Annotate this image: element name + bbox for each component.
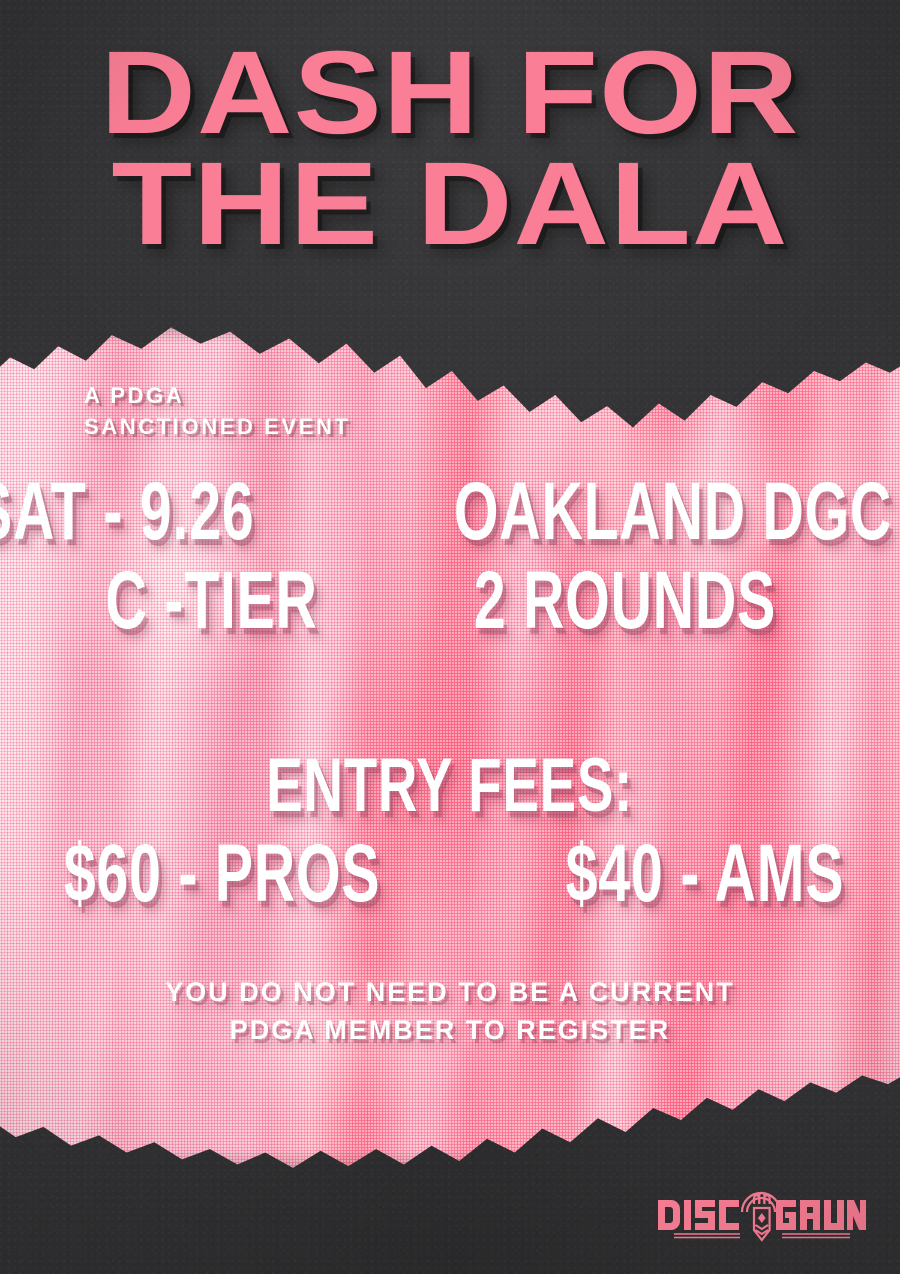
sanction-kicker: A PDGA SANCTIONED EVENT	[84, 380, 351, 442]
poster-body: A PDGA SANCTIONED EVENT SAT - 9.26 OAKLA…	[0, 318, 900, 1173]
event-date: SAT - 9.26	[0, 468, 254, 557]
detail-row-date-venue: SAT - 9.26 OAKLAND DGC	[0, 468, 900, 557]
gauntlet-shield-icon	[742, 1193, 780, 1240]
brand-logo	[654, 1176, 868, 1246]
kicker-line-1: A PDGA	[84, 380, 351, 411]
kicker-line-2: SANCTIONED EVENT	[84, 411, 351, 442]
title-line-2: THE DALA	[0, 149, 900, 260]
event-details: SAT - 9.26 OAKLAND DGC C -TIER 2 ROUNDS	[0, 468, 900, 645]
entry-fees-section: ENTRY FEES: $60 - PROS $40 - AMS	[0, 746, 900, 918]
detail-row-tier-rounds: C -TIER 2 ROUNDS	[0, 557, 900, 646]
entry-fees-heading: ENTRY FEES:	[267, 746, 634, 826]
fee-pros: $60 - PROS	[64, 830, 380, 919]
event-poster: DASH FOR THE DALA A PDGA SANCTIONED EVEN…	[0, 0, 900, 1274]
event-rounds: 2 ROUNDS	[473, 557, 775, 646]
disclaimer-line-2: PDGA MEMBER TO REGISTER	[0, 1011, 900, 1049]
entry-fees-row: $60 - PROS $40 - AMS	[0, 830, 900, 919]
disc-gauntlet-logo-svg	[654, 1178, 868, 1244]
event-tier: C -TIER	[105, 557, 317, 646]
title-line-1: DASH FOR	[0, 38, 900, 149]
disclaimer-line-1: YOU DO NOT NEED TO BE A CURRENT	[0, 973, 900, 1011]
fee-ams: $40 - AMS	[566, 830, 845, 919]
page-title: DASH FOR THE DALA	[0, 38, 900, 260]
membership-disclaimer: YOU DO NOT NEED TO BE A CURRENT PDGA MEM…	[0, 973, 900, 1050]
event-venue: OAKLAND DGC	[454, 468, 892, 557]
